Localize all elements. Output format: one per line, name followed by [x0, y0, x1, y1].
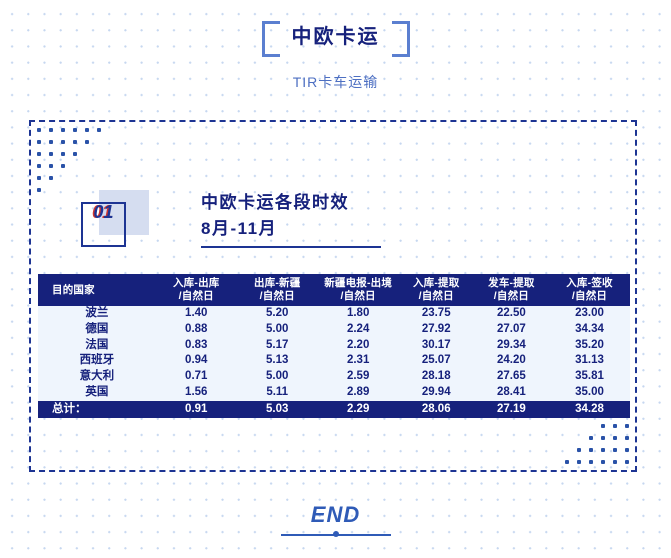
cell-country: 波兰	[38, 306, 156, 322]
decorative-dot	[49, 128, 53, 132]
cell-total-value-3: 28.06	[399, 401, 474, 418]
cell-value-0: 0.94	[156, 353, 237, 369]
cell-value-3: 23.75	[399, 306, 474, 322]
table-row: 波兰1.405.201.8023.7522.5023.00	[38, 306, 630, 322]
cell-value-2: 2.59	[318, 369, 399, 385]
col-header-line1: 目的国家	[52, 284, 95, 296]
col-header-line1: 入库-签收	[566, 277, 613, 289]
cell-value-0: 0.71	[156, 369, 237, 385]
cell-value-2: 2.89	[318, 385, 399, 401]
end-rule-wrap	[281, 530, 391, 540]
decorative-dot	[577, 448, 581, 452]
badge-number: 01	[81, 190, 126, 235]
table-column-header-0: 目的国家	[38, 274, 156, 306]
table-column-header-6: 入库-签收/自然日	[549, 274, 630, 306]
cell-value-2: 2.20	[318, 338, 399, 354]
cell-country: 英国	[38, 385, 156, 401]
decorative-dot	[589, 436, 593, 440]
brand-title-wrap: 中欧卡运	[258, 18, 414, 58]
decorative-dot	[613, 436, 617, 440]
cell-value-3: 25.07	[399, 353, 474, 369]
col-header-line1: 发车-提取	[488, 277, 535, 289]
decorative-dot	[577, 460, 581, 464]
table-row: 英国1.565.112.8929.9428.4135.00	[38, 385, 630, 401]
table-column-header-4: 入库-提取/自然日	[399, 274, 474, 306]
table-column-header-1: 入库-出库/自然日	[156, 274, 237, 306]
cell-value-0: 1.40	[156, 306, 237, 322]
cell-value-4: 22.50	[474, 306, 549, 322]
cell-value-2: 2.31	[318, 353, 399, 369]
section-badge: 01	[81, 190, 149, 254]
decorative-dot	[49, 140, 53, 144]
cell-total-value-5: 34.28	[549, 401, 630, 418]
cell-value-1: 5.13	[237, 353, 318, 369]
decorative-dot	[61, 128, 65, 132]
data-table-wrap: 目的国家入库-出库/自然日出库-新疆/自然日新疆电报-出境/自然日入库-提取/自…	[38, 274, 630, 418]
timeliness-table: 目的国家入库-出库/自然日出库-新疆/自然日新疆电报-出境/自然日入库-提取/自…	[38, 274, 630, 418]
cell-value-1: 5.11	[237, 385, 318, 401]
decorative-dot	[601, 460, 605, 464]
table-total-row: 总计：0.915.032.2928.0627.1934.28	[38, 401, 630, 418]
decorative-dot	[73, 128, 77, 132]
cell-value-5: 35.00	[549, 385, 630, 401]
decorative-dot	[37, 140, 41, 144]
cell-value-0: 0.88	[156, 322, 237, 338]
end-mark: END	[0, 502, 671, 540]
decorative-dot	[625, 424, 629, 428]
cell-value-4: 27.65	[474, 369, 549, 385]
col-header-line1: 新疆电报-出境	[324, 277, 392, 289]
section-title-text: 中欧卡运各段时效 8月-11月	[201, 190, 601, 248]
decorative-dot	[37, 188, 41, 192]
cell-value-3: 30.17	[399, 338, 474, 354]
decorative-dot	[37, 152, 41, 156]
decorative-dot	[85, 128, 89, 132]
decorative-dot	[61, 152, 65, 156]
cell-country: 法国	[38, 338, 156, 354]
cell-value-0: 1.56	[156, 385, 237, 401]
cell-value-2: 2.24	[318, 322, 399, 338]
decorative-dot	[37, 128, 41, 132]
cell-total-value-4: 27.19	[474, 401, 549, 418]
cell-total-label: 总计：	[38, 401, 156, 418]
cell-value-3: 27.92	[399, 322, 474, 338]
cell-total-value-0: 0.91	[156, 401, 237, 418]
cell-value-5: 35.81	[549, 369, 630, 385]
decorative-dot	[625, 460, 629, 464]
page-header: 中欧卡运 TIR卡车运输	[0, 18, 671, 92]
brand-title: 中欧卡运	[292, 24, 380, 50]
decorative-dot	[61, 140, 65, 144]
cell-value-4: 24.20	[474, 353, 549, 369]
section-title-line2: 8月-11月	[201, 216, 601, 242]
decorative-dot	[613, 460, 617, 464]
col-header-line2: /自然日	[419, 290, 454, 302]
cell-value-0: 0.83	[156, 338, 237, 354]
decorative-dot	[589, 448, 593, 452]
cell-value-5: 34.34	[549, 322, 630, 338]
section-title-underline	[201, 246, 381, 248]
cell-value-1: 5.17	[237, 338, 318, 354]
corner-bracket-right-icon	[392, 21, 410, 57]
cell-value-4: 29.34	[474, 338, 549, 354]
col-header-line2: /自然日	[494, 290, 529, 302]
col-header-line1: 入库-出库	[173, 277, 220, 289]
decorative-dot	[613, 448, 617, 452]
brand-subtitle: TIR卡车运输	[0, 72, 671, 92]
table-row: 德国0.885.002.2427.9227.0734.34	[38, 322, 630, 338]
decorative-dot	[85, 140, 89, 144]
main-panel: 01 中欧卡运各段时效 8月-11月 目的国家入库-出库/自然日出库-新疆/自然…	[29, 120, 637, 472]
end-label: END	[0, 502, 671, 528]
decorative-dot	[625, 448, 629, 452]
decorative-dot	[601, 436, 605, 440]
cell-country: 意大利	[38, 369, 156, 385]
table-row: 意大利0.715.002.5928.1827.6535.81	[38, 369, 630, 385]
decorative-dot	[601, 424, 605, 428]
col-header-line1: 出库-新疆	[254, 277, 301, 289]
section-title-block: 01 中欧卡运各段时效 8月-11月	[81, 190, 621, 260]
table-column-header-5: 发车-提取/自然日	[474, 274, 549, 306]
section-title-line1: 中欧卡运各段时效	[201, 190, 601, 216]
decorative-dot	[97, 128, 101, 132]
col-header-line1: 入库-提取	[413, 277, 460, 289]
decorative-dot	[49, 152, 53, 156]
cell-value-5: 35.20	[549, 338, 630, 354]
col-header-line2: /自然日	[179, 290, 214, 302]
col-header-line2: /自然日	[341, 290, 376, 302]
cell-country: 德国	[38, 322, 156, 338]
decorative-dot	[37, 164, 41, 168]
decorative-dot	[73, 152, 77, 156]
cell-value-3: 29.94	[399, 385, 474, 401]
cell-value-1: 5.00	[237, 369, 318, 385]
decorative-dot	[601, 448, 605, 452]
end-dot-icon	[333, 531, 339, 537]
decorative-dot	[625, 436, 629, 440]
table-row: 法国0.835.172.2030.1729.3435.20	[38, 338, 630, 354]
cell-value-5: 23.00	[549, 306, 630, 322]
col-header-line2: /自然日	[260, 290, 295, 302]
cell-value-1: 5.20	[237, 306, 318, 322]
corner-bracket-left-icon	[262, 21, 280, 57]
cell-value-2: 1.80	[318, 306, 399, 322]
table-header-row: 目的国家入库-出库/自然日出库-新疆/自然日新疆电报-出境/自然日入库-提取/自…	[38, 274, 630, 306]
decorative-dot	[73, 140, 77, 144]
cell-value-4: 27.07	[474, 322, 549, 338]
cell-country: 西班牙	[38, 353, 156, 369]
cell-value-3: 28.18	[399, 369, 474, 385]
decorative-dot	[565, 460, 569, 464]
table-body: 波兰1.405.201.8023.7522.5023.00德国0.885.002…	[38, 306, 630, 418]
decorative-dot	[61, 164, 65, 168]
col-header-line2: /自然日	[572, 290, 607, 302]
table-column-header-2: 出库-新疆/自然日	[237, 274, 318, 306]
cell-value-1: 5.00	[237, 322, 318, 338]
decorative-dot	[49, 164, 53, 168]
decorative-dot	[613, 424, 617, 428]
table-column-header-3: 新疆电报-出境/自然日	[318, 274, 399, 306]
decorative-dot	[37, 176, 41, 180]
decorative-dot	[589, 460, 593, 464]
cell-total-value-2: 2.29	[318, 401, 399, 418]
cell-value-5: 31.13	[549, 353, 630, 369]
decorative-dots-top-left	[37, 128, 127, 198]
decorative-dot	[49, 176, 53, 180]
table-header: 目的国家入库-出库/自然日出库-新疆/自然日新疆电报-出境/自然日入库-提取/自…	[38, 274, 630, 306]
cell-total-value-1: 5.03	[237, 401, 318, 418]
table-row: 西班牙0.945.132.3125.0724.2031.13	[38, 353, 630, 369]
cell-value-4: 28.41	[474, 385, 549, 401]
